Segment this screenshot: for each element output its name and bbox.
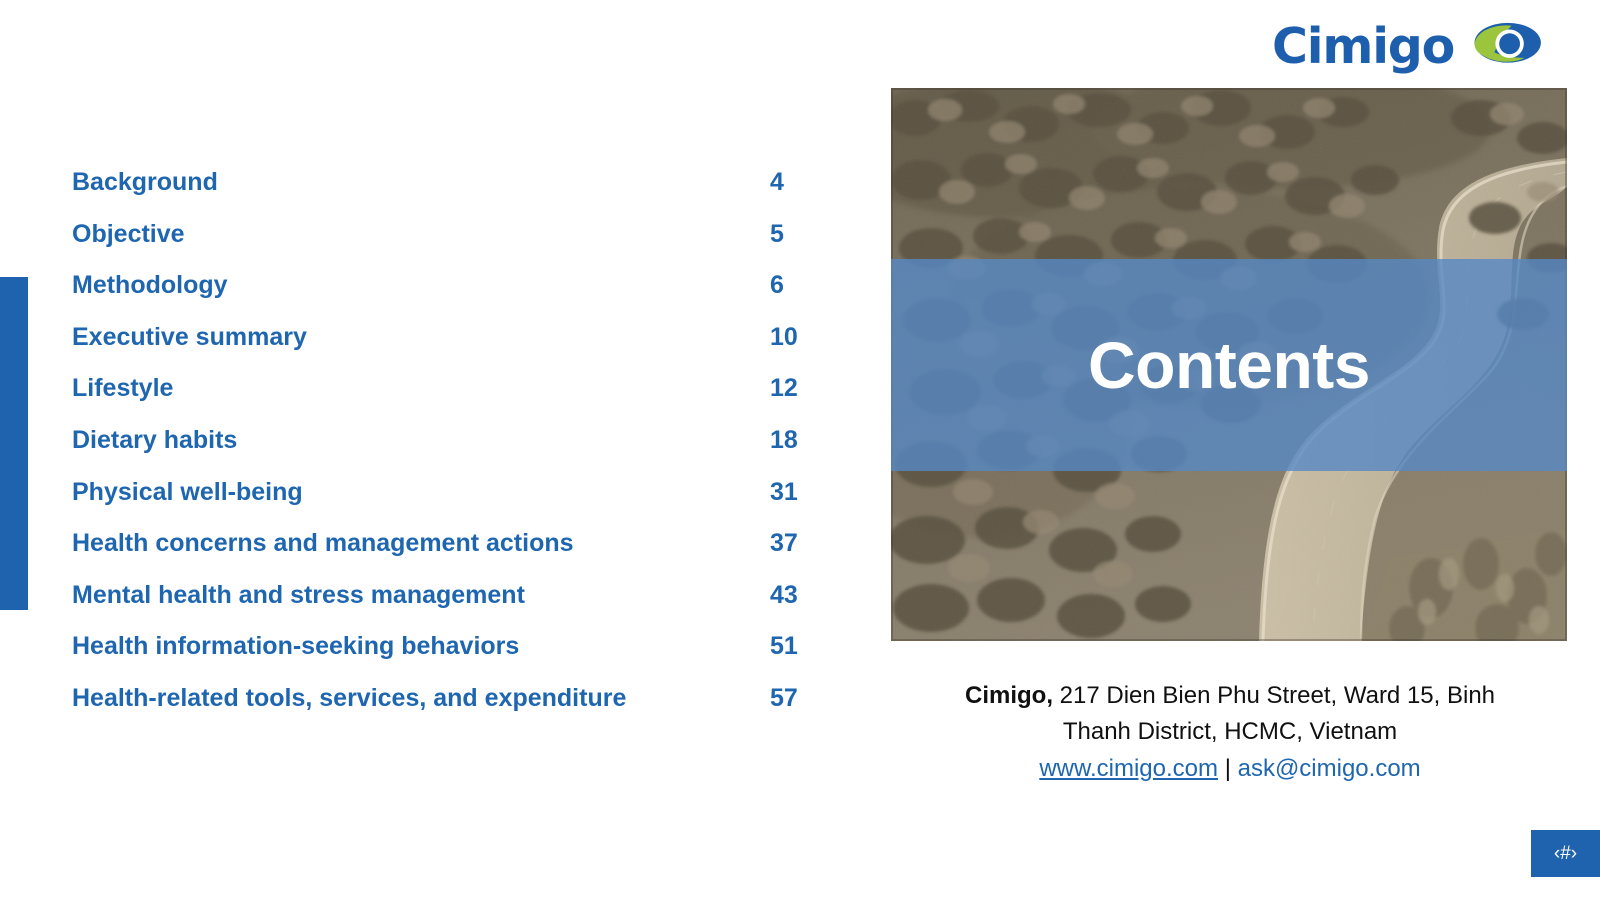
toc-item-title: Background bbox=[72, 168, 770, 197]
toc-item-page: 18 bbox=[770, 426, 798, 455]
slide-contents: Cimigo Background 4 Objective 5 Methodol… bbox=[0, 0, 1600, 900]
toc-item-title: Objective bbox=[72, 220, 770, 249]
toc-row[interactable]: Background 4 bbox=[72, 168, 812, 220]
email-link[interactable]: ask@cimigo.com bbox=[1238, 755, 1421, 782]
toc-row[interactable]: Lifestyle 12 bbox=[72, 374, 812, 426]
toc-item-title: Dietary habits bbox=[72, 426, 770, 455]
toc-item-title: Health concerns and management actions bbox=[72, 529, 770, 558]
link-separator: | bbox=[1225, 755, 1231, 782]
toc-item-page: 12 bbox=[770, 374, 798, 403]
footer-company-name: Cimigo, bbox=[965, 682, 1053, 709]
toc-item-title: Executive summary bbox=[72, 323, 770, 352]
toc-row[interactable]: Physical well-being 31 bbox=[72, 478, 812, 530]
toc-item-title: Methodology bbox=[72, 271, 770, 300]
toc-item-page: 51 bbox=[770, 632, 798, 661]
toc-row[interactable]: Mental health and stress management 43 bbox=[72, 581, 812, 633]
toc-item-title: Lifestyle bbox=[72, 374, 770, 403]
footer-contact-line: www.cimigo.com | ask@cimigo.com bbox=[880, 751, 1580, 787]
left-accent-bar bbox=[0, 277, 28, 610]
toc-item-page: 31 bbox=[770, 478, 798, 507]
toc-item-title: Physical well-being bbox=[72, 478, 770, 507]
toc-item-page: 4 bbox=[770, 168, 784, 197]
footer-address-line-1: Cimigo, 217 Dien Bien Phu Street, Ward 1… bbox=[880, 678, 1580, 714]
contents-banner: Contents bbox=[891, 259, 1567, 471]
toc-row[interactable]: Health information-seeking behaviors 51 bbox=[72, 632, 812, 684]
toc-item-page: 37 bbox=[770, 529, 798, 558]
website-link[interactable]: www.cimigo.com bbox=[1039, 755, 1218, 782]
toc-row[interactable]: Health-related tools, services, and expe… bbox=[72, 684, 812, 736]
toc-row[interactable]: Methodology 6 bbox=[72, 271, 812, 323]
page-number-badge: ‹#› bbox=[1531, 830, 1600, 877]
cimigo-logo: Cimigo bbox=[1272, 16, 1542, 76]
toc-item-title: Mental health and stress management bbox=[72, 581, 770, 610]
toc-row[interactable]: Dietary habits 18 bbox=[72, 426, 812, 478]
footer-address: Cimigo, 217 Dien Bien Phu Street, Ward 1… bbox=[880, 678, 1580, 787]
logo-wordmark: Cimigo bbox=[1272, 22, 1454, 71]
footer-street: 217 Dien Bien Phu Street, Ward 15, Binh bbox=[1053, 682, 1495, 709]
toc-row[interactable]: Health concerns and management actions 3… bbox=[72, 529, 812, 581]
table-of-contents: Background 4 Objective 5 Methodology 6 E… bbox=[72, 168, 812, 736]
toc-item-page: 43 bbox=[770, 581, 798, 610]
footer-address-line-2: Thanh District, HCMC, Vietnam bbox=[880, 714, 1580, 750]
toc-item-page: 6 bbox=[770, 271, 784, 300]
toc-item-page: 57 bbox=[770, 684, 798, 713]
toc-item-page: 5 bbox=[770, 220, 784, 249]
toc-row[interactable]: Objective 5 bbox=[72, 220, 812, 272]
toc-row[interactable]: Executive summary 10 bbox=[72, 323, 812, 375]
banner-title: Contents bbox=[1088, 332, 1370, 398]
toc-item-title: Health-related tools, services, and expe… bbox=[72, 684, 770, 713]
toc-item-page: 10 bbox=[770, 323, 798, 352]
eye-icon bbox=[1466, 20, 1542, 72]
toc-item-title: Health information-seeking behaviors bbox=[72, 632, 770, 661]
